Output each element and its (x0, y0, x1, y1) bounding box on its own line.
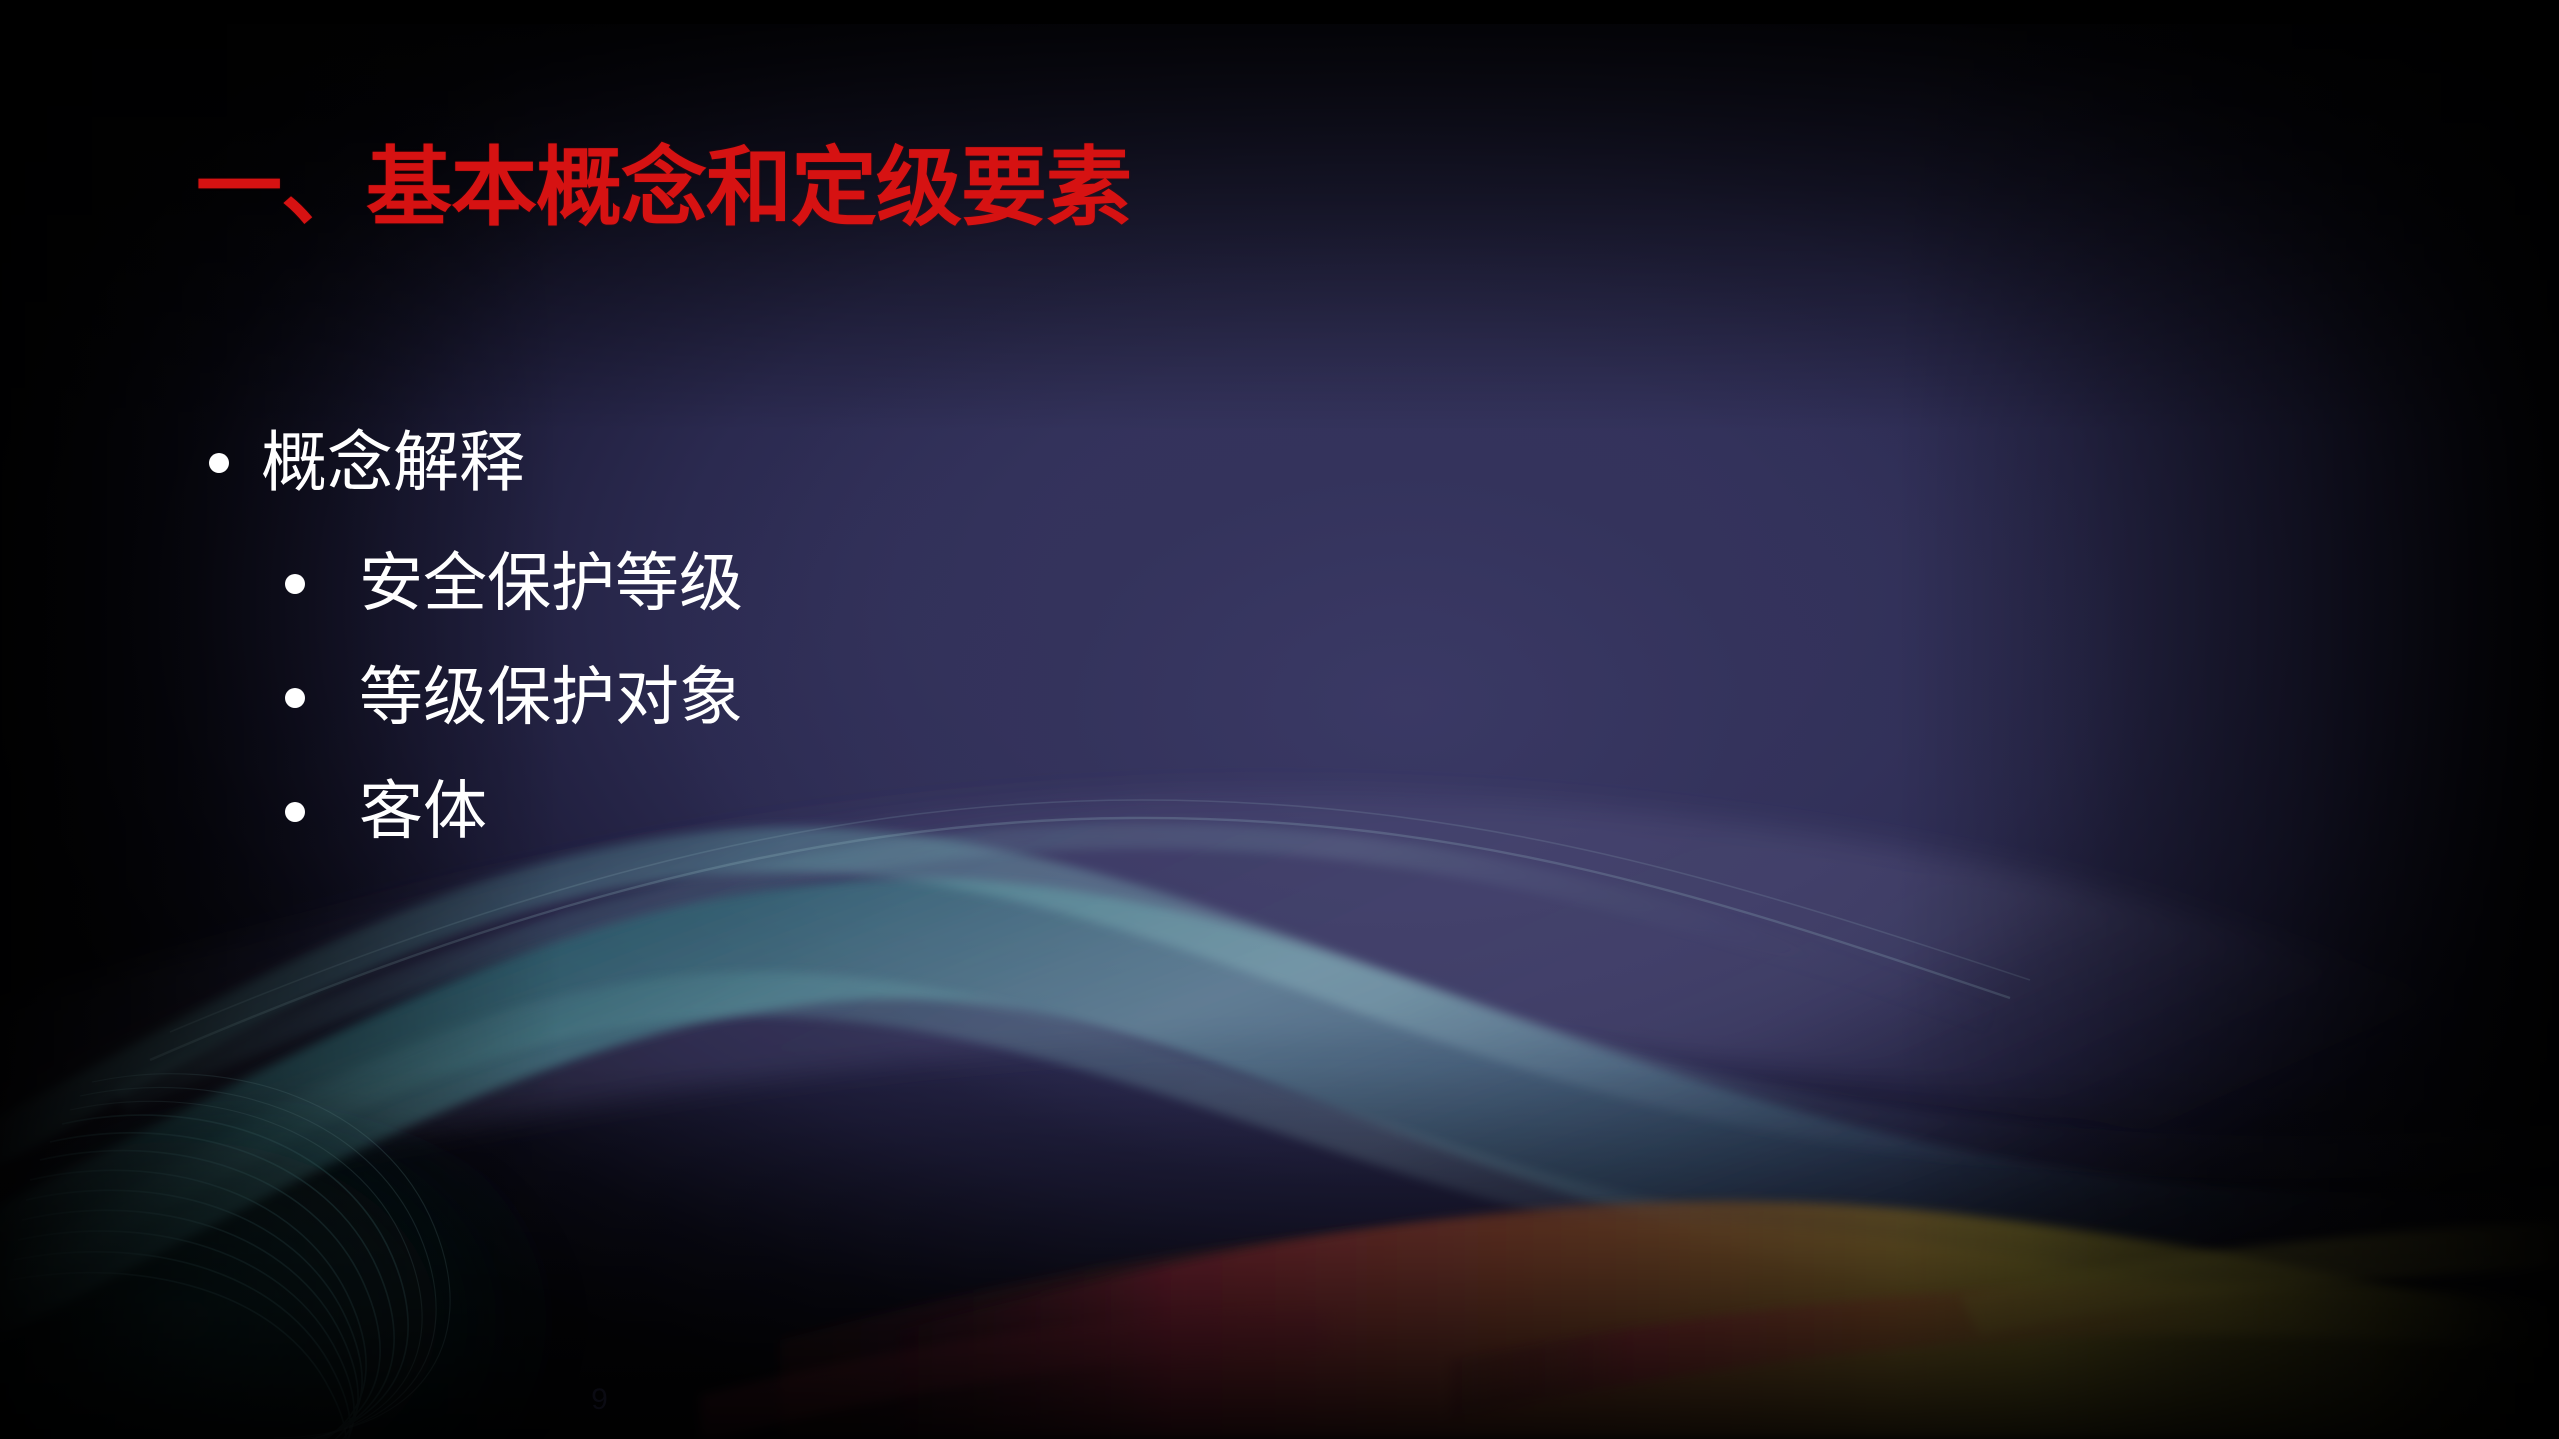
list-item-label: 安全保护等级 (359, 552, 743, 616)
slide-title: 一、基本概念和定级要素 (196, 140, 1131, 236)
list-item: 安全保护等级 (195, 552, 2359, 616)
slide-body-content: 概念解释 安全保护等级 等级保护对象 客体 (195, 430, 2359, 894)
list-item: 客体 (195, 780, 2359, 844)
top-black-strip (0, 0, 2559, 24)
list-item-label: 概念解释 (261, 430, 525, 496)
list-item-label: 客体 (359, 780, 487, 844)
list-item-label: 等级保护对象 (359, 666, 743, 730)
presentation-slide: 一、基本概念和定级要素 概念解释 安全保护等级 等级保护对象 客体 9 (0, 0, 2559, 1439)
list-item: 等级保护对象 (195, 666, 2359, 730)
bullet-dot-icon (285, 802, 305, 822)
bullet-dot-icon (285, 688, 305, 708)
bullet-dot-icon (285, 574, 305, 594)
bullet-dot-icon (209, 453, 229, 473)
list-item: 概念解释 (195, 430, 2359, 496)
slide-page-number: 9 (0, 1383, 2559, 1417)
page-number-value: 9 (591, 1383, 608, 1416)
